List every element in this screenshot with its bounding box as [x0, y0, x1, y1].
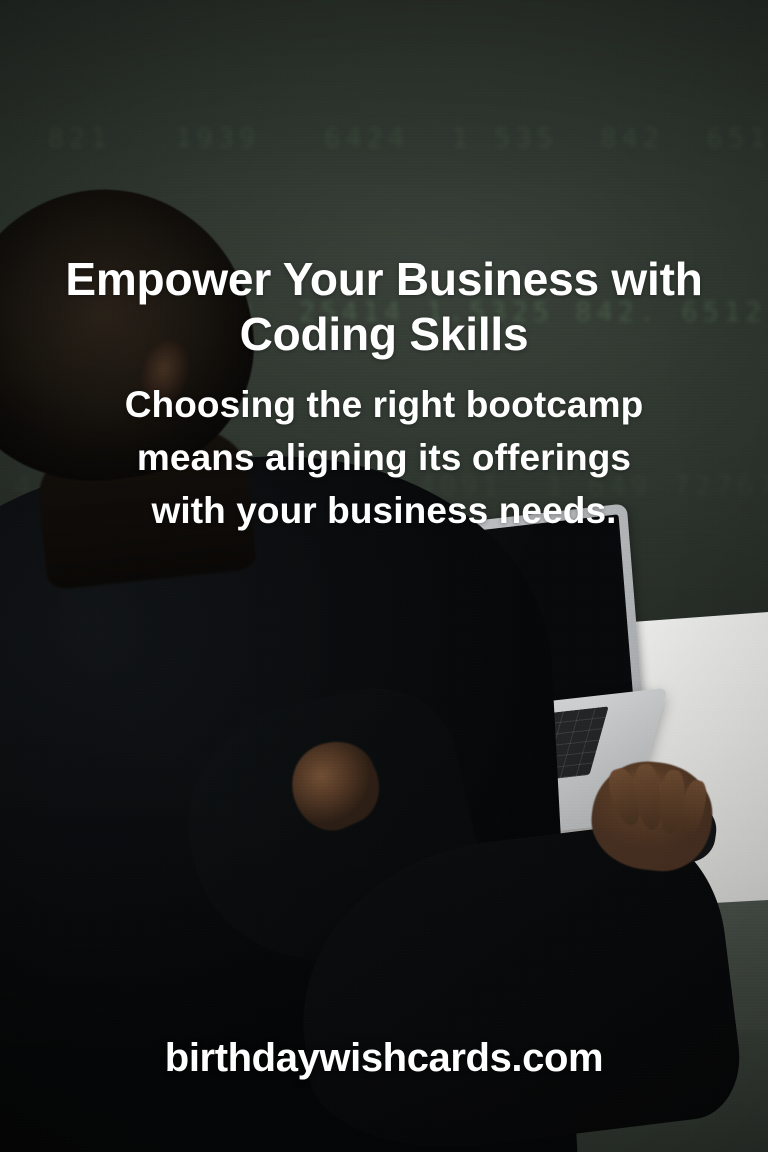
- pinterest-poster: 4 821 1939 6424 1 535 842 6512 8 66 3 1 …: [0, 0, 768, 1152]
- headline-line-1: Empower Your Business with: [65, 253, 702, 305]
- subheadline: Choosing the right bootcamp means aligni…: [0, 378, 768, 537]
- text-overlay: Empower Your Business with Coding Skills…: [0, 0, 768, 1152]
- subheadline-line-3: with your business needs.: [151, 490, 616, 531]
- subheadline-line-1: Choosing the right bootcamp: [125, 384, 644, 425]
- subheadline-line-2: means aligning its offerings: [137, 437, 631, 478]
- headline-line-2: Coding Skills: [240, 308, 529, 360]
- headline: Empower Your Business with Coding Skills: [0, 252, 768, 362]
- site-url-watermark: birthdaywishcards.com: [0, 1036, 768, 1081]
